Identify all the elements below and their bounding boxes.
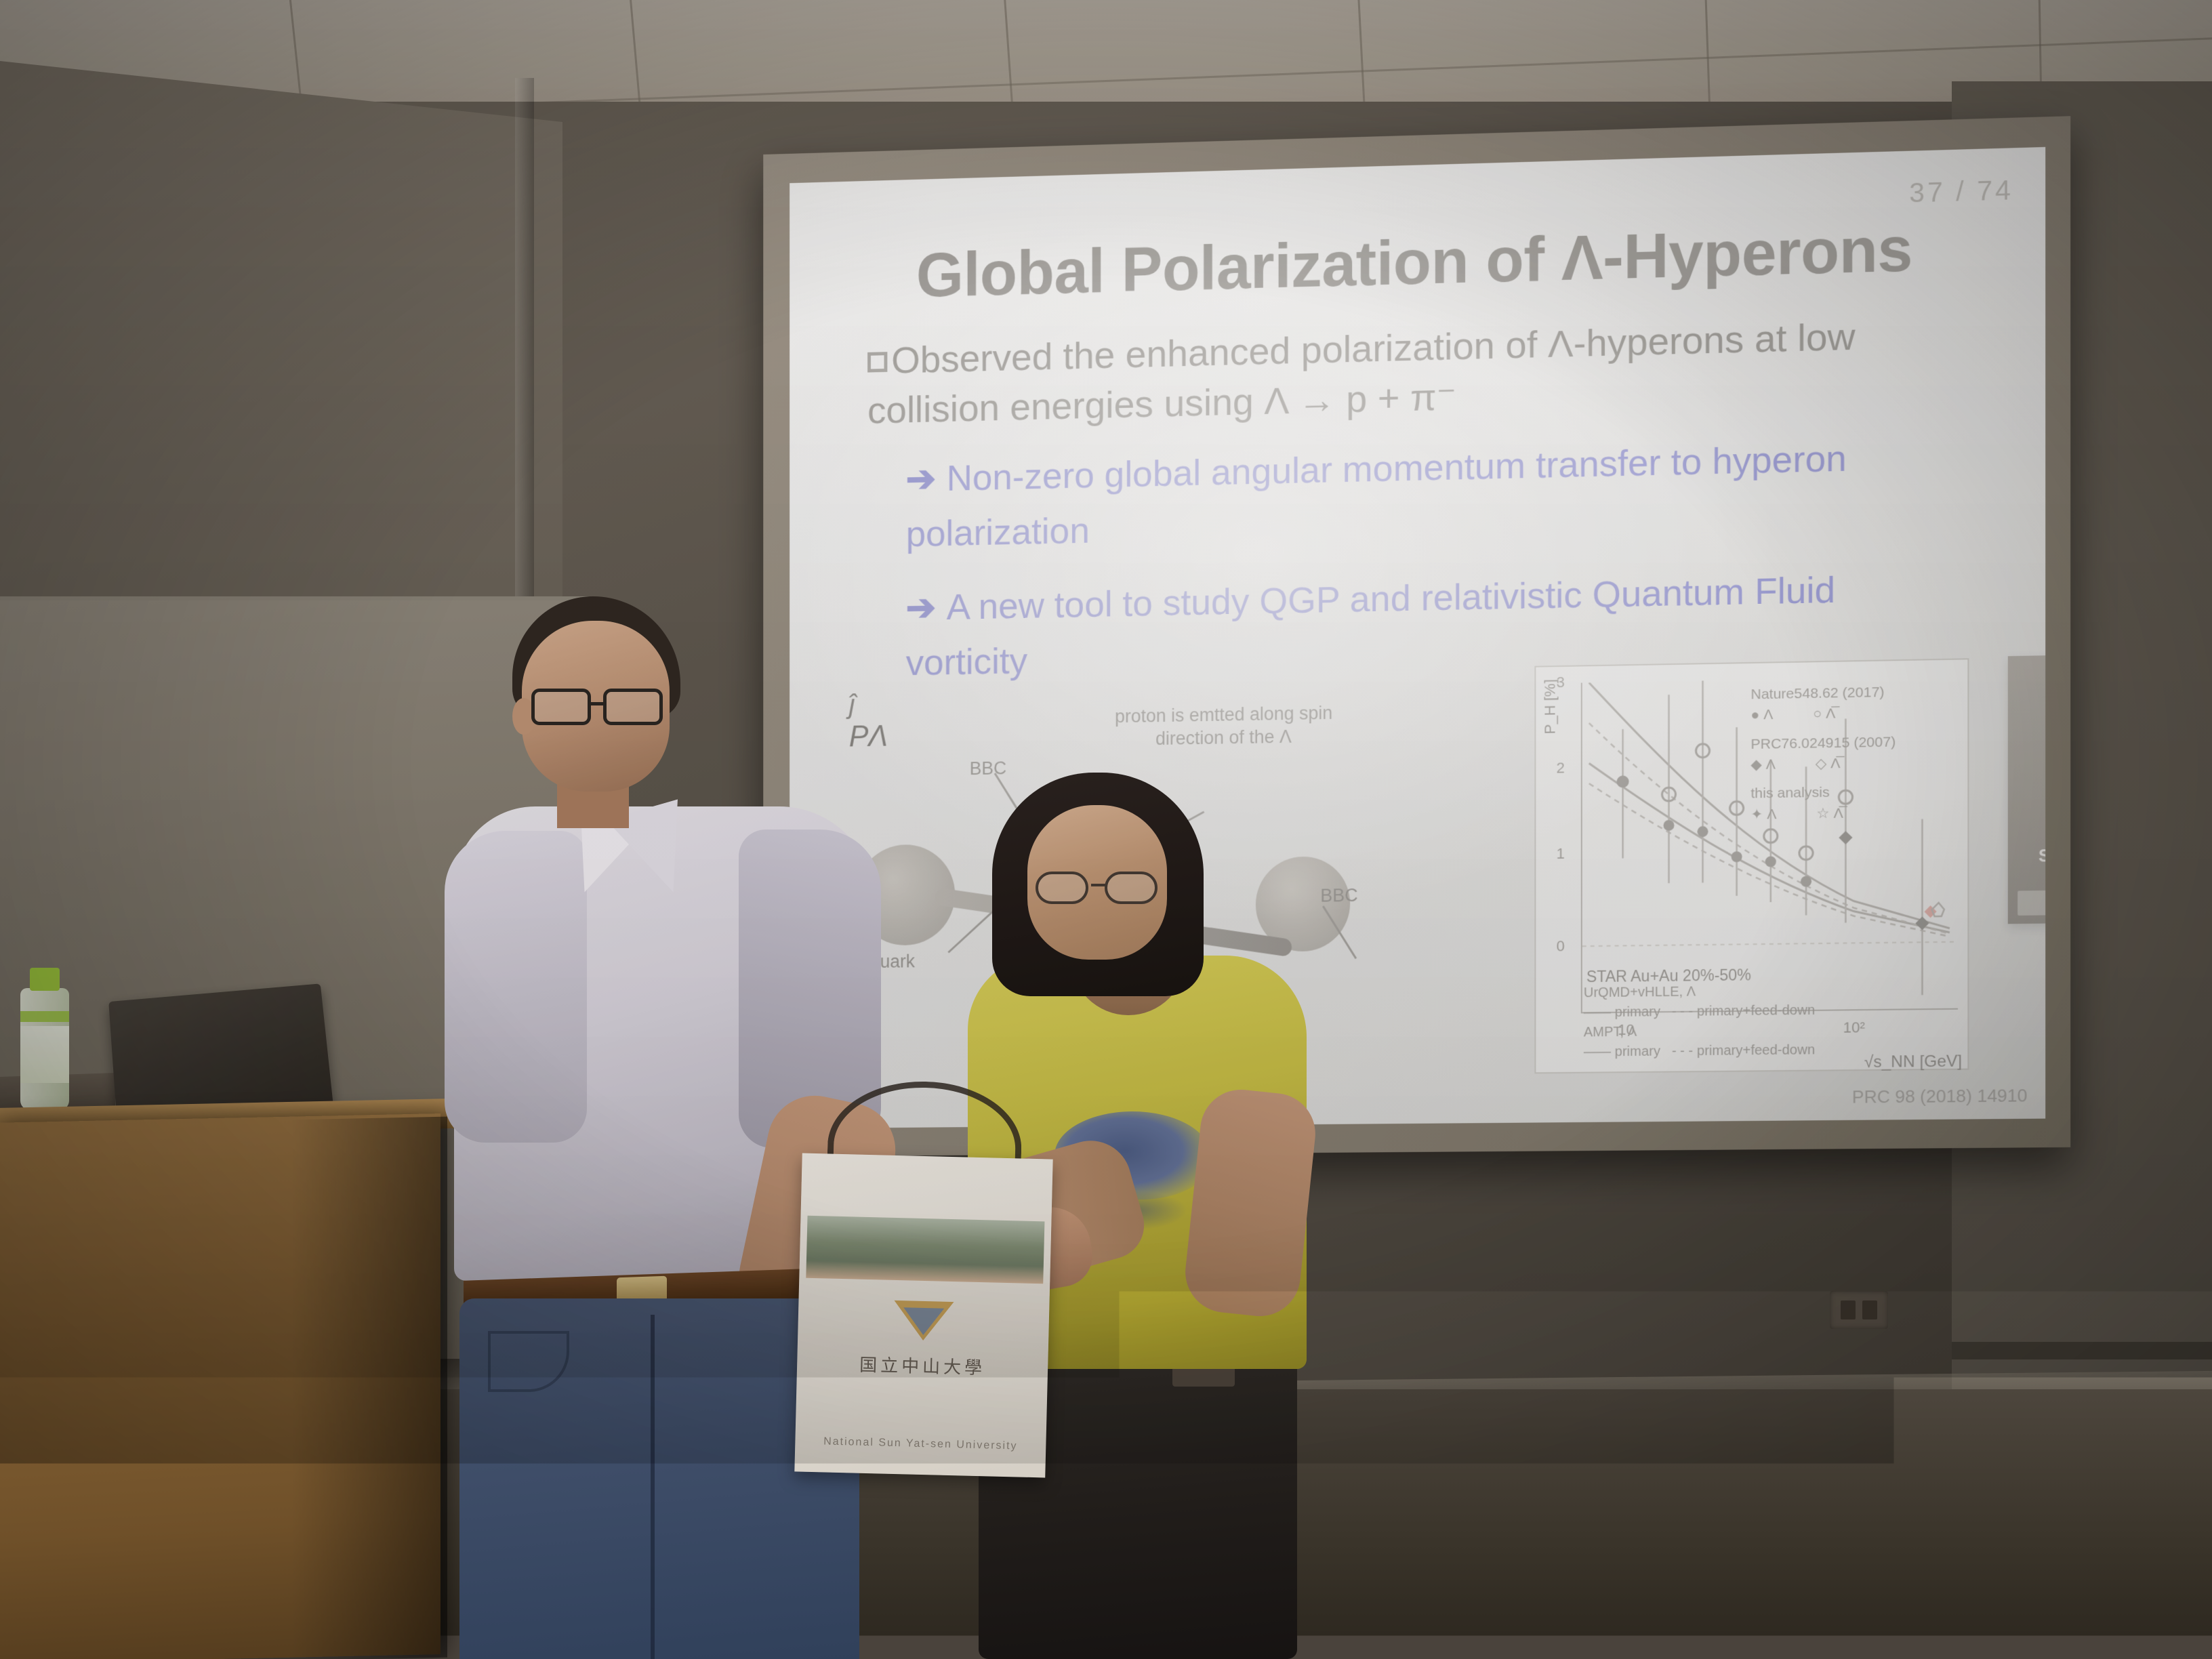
legend-symbol-lambda: ◆ Λ bbox=[1750, 755, 1776, 775]
legend-source-this-analysis: this analysis bbox=[1750, 781, 1958, 804]
gift-bag-campus-photo bbox=[806, 1216, 1044, 1284]
model-urqmd-styles: —— primary - - - primary+feed-down bbox=[1584, 1001, 1815, 1023]
plot-ytick-1: 1 bbox=[1557, 845, 1565, 863]
slide-arrow-bullet-1: ➔Non-zero global angular momentum transf… bbox=[906, 428, 1969, 562]
model-ampt-name: AMPT, Λ bbox=[1584, 1021, 1815, 1043]
university-crest-inner-icon bbox=[903, 1307, 944, 1335]
eyeglasses-icon bbox=[527, 689, 672, 726]
polarization-plot: P_H [%] bbox=[1534, 658, 1969, 1073]
legend-symbol-lambda: ✦ Λ bbox=[1750, 805, 1776, 825]
model-ampt-styles: —— primary - - - primary+feed-down bbox=[1584, 1040, 1815, 1062]
nature-cover-footer bbox=[2018, 888, 2045, 916]
university-gift-bag: 国立中山大學 National Sun Yat-sen University bbox=[794, 1153, 1052, 1478]
plot-ytick-3: 3 bbox=[1557, 674, 1565, 691]
arrow-right-icon: ➔ bbox=[906, 451, 936, 507]
projection-screen: 37 / 74 Global Polarization of Λ-Hyperon… bbox=[763, 116, 2070, 1157]
wall-power-outlet-icon bbox=[1830, 1291, 1888, 1329]
slide-page-number: 37 / 74 bbox=[1909, 176, 2013, 209]
woman-right-arm bbox=[1181, 1086, 1319, 1320]
legend-symbol-antilambda: ○ Λ̅ bbox=[1813, 705, 1835, 724]
legend-source-nature: Nature548.62 (2017) bbox=[1750, 682, 1958, 705]
arrow-right-icon: ➔ bbox=[906, 580, 936, 636]
lecture-hall-photo: 37 / 74 Global Polarization of Λ-Hyperon… bbox=[0, 0, 2212, 1659]
plot-legend: Nature548.62 (2017) ● Λ ○ Λ̅ PRC76.02491… bbox=[1750, 679, 1958, 834]
legend-group-prc: PRC76.024915 (2007) ◆ Λ ◇ Λ̅ bbox=[1750, 732, 1958, 775]
jeans-seam bbox=[651, 1315, 655, 1659]
legend-group-this-analysis: this analysis ✦ Λ ☆ Λ̅ bbox=[1750, 781, 1958, 825]
plot-ytick-2: 2 bbox=[1557, 759, 1565, 777]
diagram-caption: proton is emtted along spin direction of… bbox=[1083, 701, 1365, 752]
plot-model-curves: UrQMD+vHLLE, Λ —— primary - - - primary+… bbox=[1584, 981, 1815, 1062]
legend-group-nature: Nature548.62 (2017) ● Λ ○ Λ̅ bbox=[1750, 682, 1958, 725]
gift-bag-chinese-name: 国立中山大學 bbox=[797, 1349, 1048, 1380]
square-bullet-icon bbox=[867, 352, 887, 372]
plot-ytick-0: 0 bbox=[1557, 937, 1565, 955]
man-left-sleeve bbox=[445, 831, 587, 1143]
nature-magazine-cover: nature SUBATOMIC SWIRLS bbox=[2008, 653, 2045, 924]
slide-citation: PRC 98 (2018) 14910 bbox=[1852, 1085, 2028, 1108]
model-urqmd-name: UrQMD+vHLLE, Λ bbox=[1584, 981, 1815, 1003]
nature-masthead: nature bbox=[2008, 670, 2045, 726]
slide-arrow-bullet-1-text: Non-zero global angular momentum transfe… bbox=[906, 438, 1847, 554]
legend-symbol-lambda: ● Λ bbox=[1750, 705, 1773, 725]
gift-bag-english-name: National Sun Yat-sen University bbox=[795, 1435, 1046, 1453]
plot-x-axis-label: √s_NN [GeV] bbox=[1864, 1052, 1962, 1072]
slide-bullet-one-text: Observed the enhanced polarization of Λ-… bbox=[867, 314, 1856, 431]
legend-source-prc: PRC76.024915 (2007) bbox=[1750, 732, 1958, 755]
right-baseboard bbox=[1952, 1342, 2212, 1359]
slide-title: Global Polarization of Λ-Hyperons bbox=[790, 210, 2045, 314]
nature-headline: SUBATOMIC SWIRLS bbox=[2008, 844, 2045, 887]
legend-symbol-antilambda: ◇ Λ̅ bbox=[1816, 754, 1841, 774]
legend-symbol-antilambda: ☆ Λ̅ bbox=[1816, 804, 1843, 823]
eyeglasses-icon bbox=[1034, 872, 1164, 905]
plot-xtick-100: 10² bbox=[1843, 1019, 1865, 1037]
diagram-label-bbc-right: BBC bbox=[1320, 884, 1357, 907]
podium-shadow bbox=[291, 1117, 447, 1659]
slide-bullet-one: Observed the enhanced polarization of Λ-… bbox=[867, 308, 1983, 435]
green-tea-bottle bbox=[15, 968, 73, 1110]
